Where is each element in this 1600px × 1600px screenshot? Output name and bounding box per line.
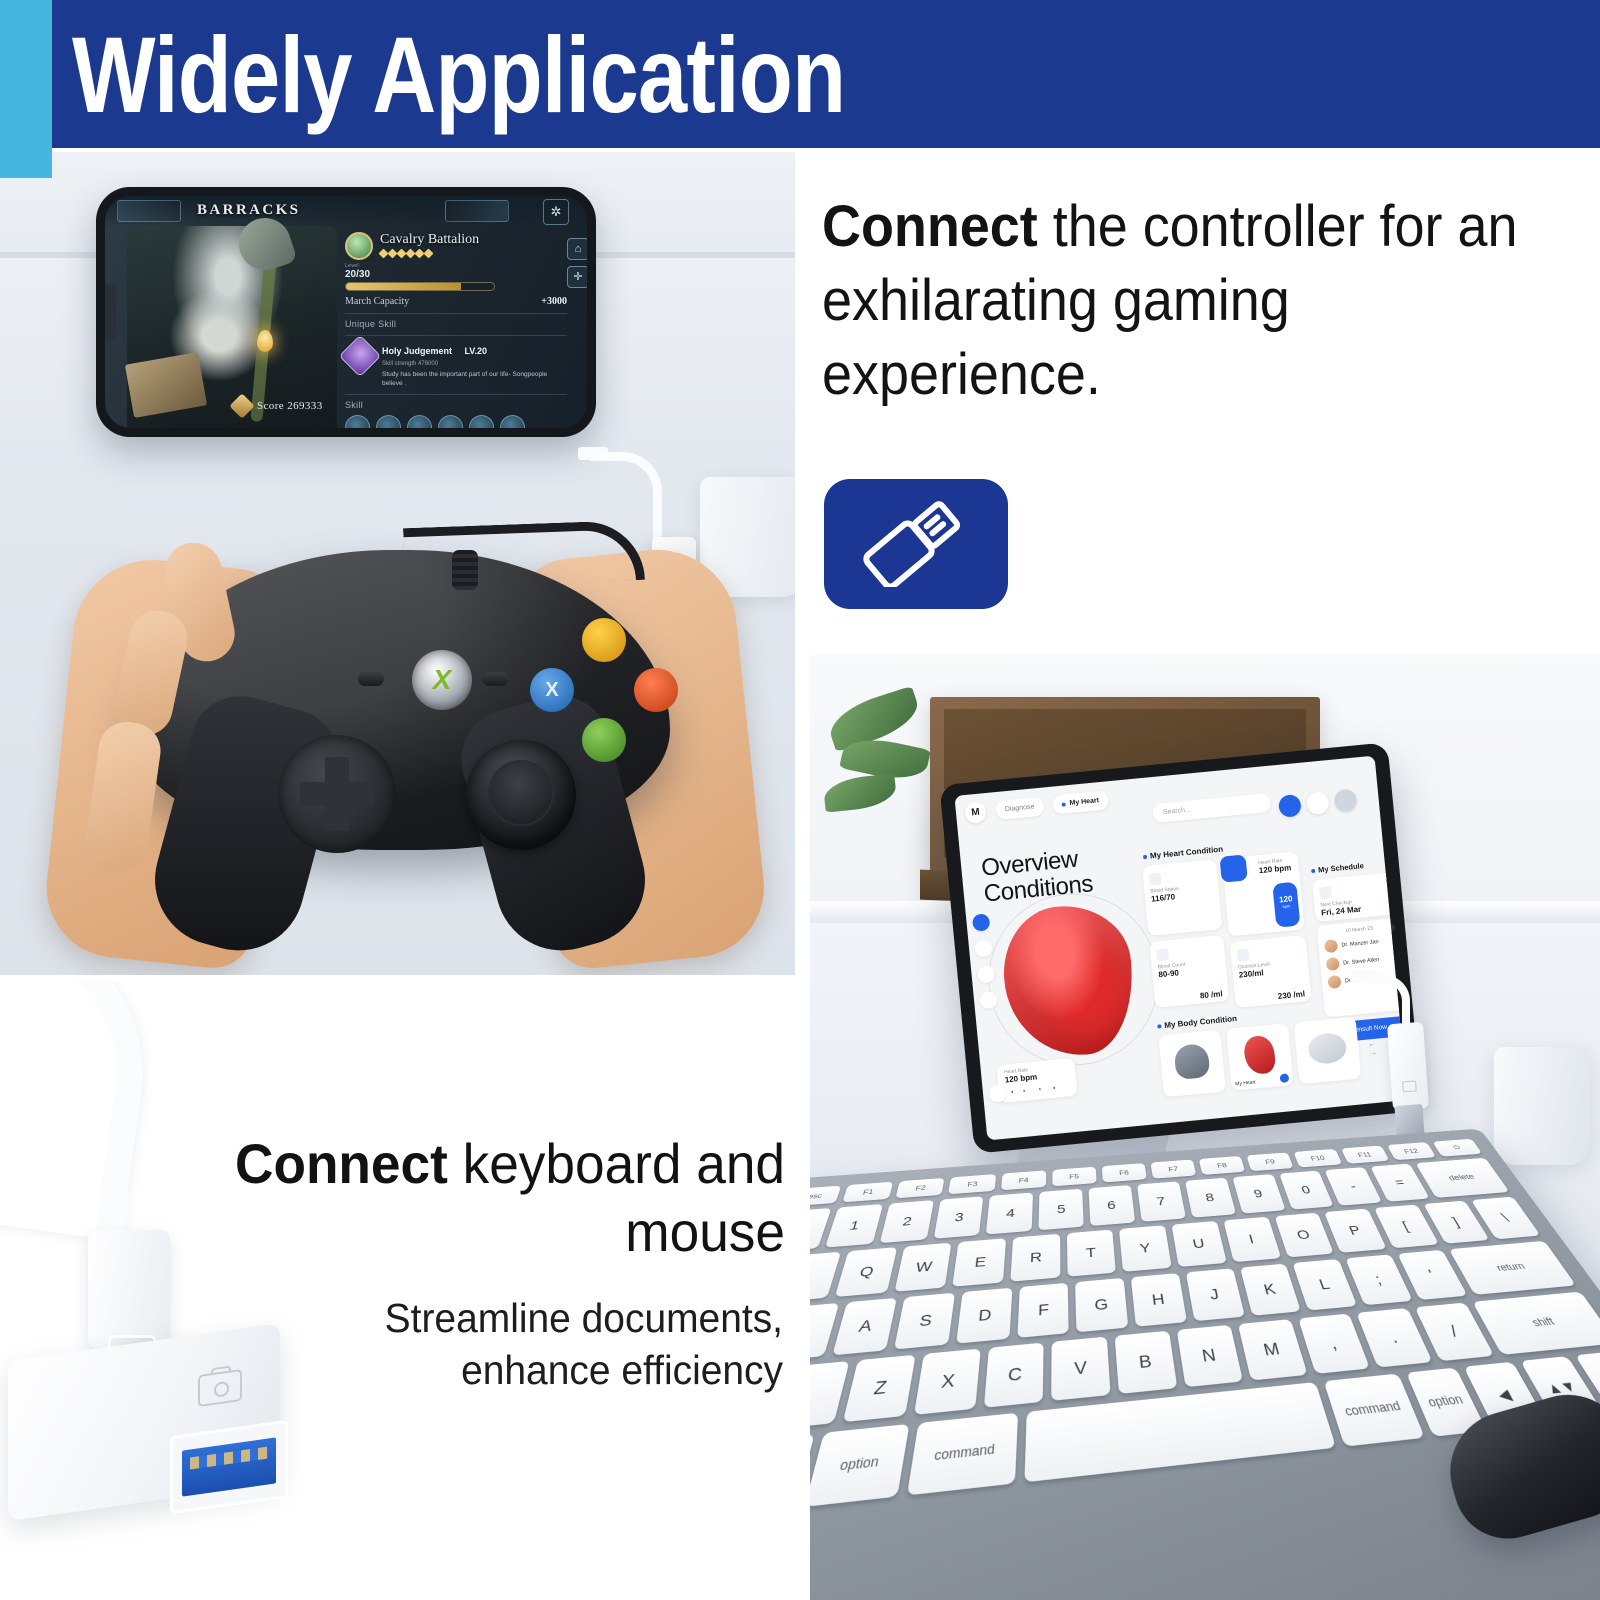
key-q[interactable]: Q [835,1247,897,1297]
phone-side-button [105,284,116,340]
key-5[interactable]: 5 [1039,1189,1084,1230]
game-ornament-left [117,200,181,222]
skill-icon [407,415,432,428]
otg-adapter-product-shot [0,980,330,1560]
card-glucose-level[interactable]: Glucose Level 230/ml 230 /ml [1230,935,1312,1008]
body-card-lungs[interactable] [1158,1030,1226,1098]
game-menu-icon[interactable]: ✲ [543,199,569,225]
key-d[interactable]: D [956,1288,1012,1344]
skill-label: Skill [345,400,567,410]
app-logo[interactable]: M [964,801,987,824]
start-button[interactable] [482,672,508,686]
section-heart-condition-label: My Heart Condition [1150,845,1224,861]
lungs-icon [1173,1043,1210,1080]
heart-rate-widget: Heart Rate 120 bpm [996,1058,1077,1103]
usb-flash-drive-icon [862,501,970,587]
skill-icon [438,415,463,428]
unique-skill-level: LV.20 [464,346,487,356]
camera-lens-icon [214,1381,229,1398]
key-w[interactable]: W [894,1243,952,1292]
sidebar-item-overview[interactable] [972,913,991,932]
button-x[interactable]: X [530,668,574,712]
card-heart-rate-value: 120 bpm [1259,863,1294,875]
card-glucose-detail: 230 /ml [1241,989,1306,1004]
tab-my-heart[interactable]: My Heart [1052,790,1109,814]
skill-item[interactable]: Lv.15 [469,415,494,428]
section-my-schedule-label: My Schedule [1318,861,1365,874]
section-dot-icon [1311,869,1315,873]
avatar [1324,939,1338,953]
card-next-checkup[interactable]: Next Checkup Fri, 24 Mar [1312,872,1400,922]
panel-controller-copy: Connect the controller for an exhilarati… [810,152,1600,642]
key-shift-right[interactable]: shift [1472,1292,1600,1355]
avatar [1326,957,1340,971]
avatar[interactable] [1334,789,1358,813]
key-x[interactable]: X [914,1349,981,1415]
march-capacity-label: March Capacity [345,296,409,307]
unique-skill-strength: Skill strength 476000 [382,361,567,367]
skill-icon-list: Lv.15 Lv.15 Lv.15 Lv.15 Lv.15 Lv.15 [345,415,567,428]
key-f4[interactable]: F4 [1001,1170,1046,1190]
game-ornament-right [445,200,509,222]
houseplant [824,685,954,825]
card-blood-count-detail: 80 /ml [1160,989,1223,1004]
key-h[interactable]: H [1131,1273,1187,1327]
key-7[interactable]: 7 [1137,1181,1186,1221]
key-a[interactable]: A [832,1298,898,1356]
unit-header-row: Cavalry Battalion [345,232,567,260]
skill-item[interactable]: Lv.15 [438,415,463,428]
skill-icon [469,415,494,428]
heart-rate-highlight: 120bpm [1272,882,1300,928]
list-item[interactable]: Dr. Steve Allen [1326,951,1399,971]
key-2[interactable]: 2 [879,1200,933,1243]
key-shift-left[interactable]: shift [810,1361,850,1437]
tablet-otg-adapter [1387,1022,1429,1110]
key-delete[interactable]: delete [1416,1158,1510,1198]
body-card-active-dot [1280,1073,1290,1083]
headline-keyboard-bold: Connect [235,1132,448,1195]
key-f2[interactable]: F2 [896,1178,945,1198]
game-screen-title: BARRACKS [197,202,300,219]
book-art [125,352,207,418]
skill-item[interactable]: Lv.15 [345,415,370,428]
key-f9[interactable]: F9 [1247,1152,1294,1171]
key-caps-lock[interactable]: caps [810,1303,839,1366]
key-f1[interactable]: F1 [842,1182,893,1203]
skill-item[interactable]: Lv.15 [407,415,432,428]
panel-divider-horizontal [0,975,795,981]
xp-progress-bar [345,282,495,291]
tablet-screen: M Diagnose My Heart Search... Overview C… [954,756,1407,1141]
search-input[interactable]: Search... [1152,793,1271,823]
key-3[interactable]: 3 [933,1196,984,1239]
plant-leaf [823,773,898,812]
section-body-condition-label: My Body Condition [1164,1014,1237,1030]
avatar [1327,975,1341,989]
game-side-buttons: ⌂ ✛ [567,238,587,288]
section-dot-icon [1157,1024,1161,1028]
key-6[interactable]: 6 [1089,1185,1136,1226]
card-blood-count[interactable]: Blood Count 80-90 80 /ml [1149,935,1229,1008]
xbox-logo-icon: X [433,664,452,696]
key-esc[interactable]: esc [810,1186,842,1207]
skill-icon [376,415,401,428]
key-s[interactable]: S [894,1293,955,1350]
usb-a-port [170,1420,288,1515]
game-info-panel: Cavalry Battalion Level 20/30 March Capa… [345,232,567,428]
score-value: 269333 [287,400,322,412]
headline-controller-bold: Connect [822,194,1038,259]
doctor-name: Dr. Manzer Jan [1341,939,1379,949]
controller-cord [403,520,645,588]
button-a[interactable] [582,718,626,762]
unique-skill-label: Unique Skill [345,319,567,329]
camera-viewfinder-icon [211,1365,231,1375]
key-v[interactable]: V [1052,1337,1111,1401]
key-u[interactable]: U [1172,1221,1227,1267]
divider [345,335,567,336]
unique-skill-row[interactable]: Holy Judgement LV.20 Skill strength 4760… [345,341,567,388]
dpad-cross-icon [300,757,374,831]
power-icon[interactable]: ⏻ [1432,1139,1482,1157]
divider [345,313,567,314]
notification-icon[interactable] [1306,791,1330,815]
key-tab[interactable]: tab [810,1252,841,1305]
heart-icon-badge [1219,854,1247,882]
unique-skill-icon [339,335,381,377]
key-m[interactable]: M [1238,1319,1308,1380]
key-g[interactable]: G [1076,1278,1129,1332]
key-0[interactable]: 0 [1279,1171,1334,1210]
key-option-left[interactable]: option [810,1424,909,1507]
doctor-name: Dr. Steve Allen [1343,957,1379,966]
panel-divider-vertical [795,148,810,1600]
button-b[interactable] [634,668,678,712]
heart-icon [1243,1035,1277,1076]
skill-icon [345,415,370,428]
game-controller-scene: X X [60,522,740,975]
key-c[interactable]: C [983,1343,1044,1408]
phone-screen: BARRACKS ✲ Score 269333 Cavalr [105,196,587,428]
key-f11[interactable]: F11 [1340,1146,1389,1164]
panel-tablet-photo: M Diagnose My Heart Search... Overview C… [810,655,1600,1600]
unit-name: Cavalry Battalion [380,232,479,248]
calendar-icon [1319,886,1332,899]
skill-item[interactable]: Lv.15 [500,415,525,428]
key-f6[interactable]: F6 [1102,1163,1147,1182]
kidney-icon [1307,1032,1348,1066]
chart-icon [1156,948,1169,961]
key-y[interactable]: Y [1119,1225,1171,1272]
button-y[interactable] [582,618,626,662]
camera-icon [1402,1080,1417,1092]
unique-skill-name: Holy Judgement [382,346,452,356]
section-my-schedule: My Schedule [1311,861,1364,875]
guide-button[interactable]: X [412,650,472,710]
back-button[interactable] [358,672,384,686]
active-dot-icon [1061,802,1065,806]
home-icon[interactable]: ⌂ [567,238,587,260]
march-capacity-row: March Capacity +3000 [345,296,567,307]
dpad[interactable] [278,735,396,853]
key-4[interactable]: 4 [986,1192,1033,1234]
key-t[interactable]: T [1067,1229,1117,1276]
blood-icon [1149,872,1162,885]
key-k[interactable]: K [1240,1264,1302,1316]
right-analog-stick[interactable] [466,740,576,850]
staff-gem-art [257,330,273,352]
section-heart-condition: My Heart Condition [1143,845,1224,862]
key-z[interactable]: Z [843,1355,916,1422]
key-n[interactable]: N [1177,1325,1243,1387]
otg-cable [0,980,162,1242]
glucose-icon [1236,948,1249,961]
skill-item[interactable]: Lv.15 [376,415,401,428]
panel-gaming-photo: BARRACKS ✲ Score 269333 Cavalr [0,152,795,975]
key-f7[interactable]: F7 [1151,1159,1197,1178]
section-body-condition: My Body Condition [1157,1014,1237,1031]
score-text: Score 269333 [257,400,323,412]
panel-keyboard-copy: Connect keyboard and mouse Streamline do… [0,980,795,1600]
key-i[interactable]: I [1223,1217,1281,1262]
usb-pins [190,1447,268,1470]
tablet-device: M Diagnose My Heart Search... Overview C… [939,742,1422,1153]
key-8[interactable]: 8 [1185,1178,1236,1218]
key-f5[interactable]: F5 [1052,1167,1097,1187]
key-return[interactable]: return [1448,1241,1576,1295]
score-diamond-icon [229,393,254,418]
key-command-right[interactable]: command [1323,1373,1425,1446]
score-badge: Score 269333 [233,396,323,416]
card-blood-status[interactable]: Blood Status 116/70 [1142,859,1222,936]
key-e[interactable]: E [953,1238,1007,1287]
key-command-left[interactable]: command [907,1413,1018,1496]
key-f8[interactable]: F8 [1199,1156,1246,1175]
tab-diagnose[interactable]: Diagnose [995,797,1044,820]
page-title: Widely Application [72,10,845,140]
key-f3[interactable]: F3 [948,1174,995,1194]
headline-keyboard-rest: keyboard and mouse [448,1132,785,1263]
tab-diagnose-label: Diagnose [1005,803,1035,813]
level-value: 20/30 [345,269,567,280]
usb3-blue-insert [182,1437,276,1496]
tab-my-heart-label: My Heart [1069,797,1099,807]
key-1[interactable]: 1 [825,1204,883,1248]
skill-icon [500,415,525,428]
key-f10[interactable]: F10 [1294,1149,1342,1168]
body-card-kidney[interactable] [1294,1017,1362,1085]
call-icon[interactable] [1278,794,1302,818]
divider [345,394,567,395]
march-capacity-value: +3000 [541,296,567,307]
subcopy-keyboard: Streamline documents, enhance efficiency [251,1292,783,1396]
score-label: Score [257,400,284,412]
key-j[interactable]: J [1186,1268,1245,1321]
headline-keyboard: Connect keyboard and mouse [158,1130,785,1266]
sidebar-item-history[interactable] [974,939,993,958]
key-f[interactable]: F [1017,1283,1069,1338]
desk-cup [1494,1047,1590,1165]
body-card-heart-label: My Heart [1235,1079,1256,1087]
headline-controller: Connect the controller for an exhilarati… [822,190,1538,412]
key-f12[interactable]: F12 [1387,1142,1436,1160]
unit-emblem-icon [345,232,373,260]
smartphone: BARRACKS ✲ Score 269333 Cavalr [96,187,596,437]
key-l[interactable]: L [1293,1259,1358,1311]
camera-icon [198,1369,242,1407]
section-dot-icon [1143,855,1147,859]
usb-badge [824,479,1008,609]
key-r[interactable]: R [1010,1234,1060,1282]
key-b[interactable]: B [1115,1331,1178,1394]
plus-icon[interactable]: ✛ [567,266,587,288]
list-item[interactable]: Dr. Manzer Jan [1324,933,1397,953]
unique-skill-description: Study has been the important part of our… [382,370,567,388]
unit-star-rating [380,250,479,257]
key-o[interactable]: O [1274,1213,1334,1258]
key-9[interactable]: 9 [1232,1174,1285,1214]
header-accent-bar [0,0,52,178]
body-card-heart[interactable]: My Heart [1226,1023,1294,1091]
